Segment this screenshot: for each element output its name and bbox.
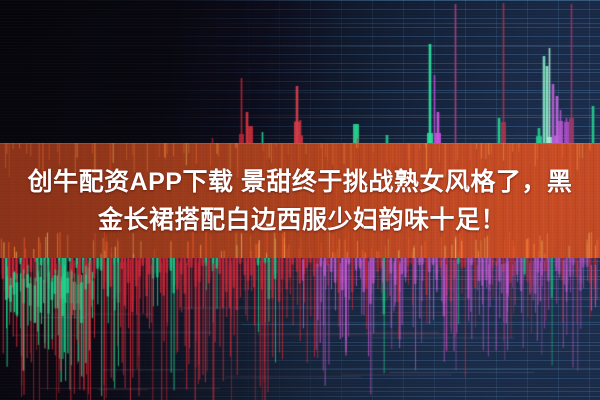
headline-text-block: 创牛配资APP下载 景甜终于挑战熟女风格了，黑 金长裙搭配白边西服少妇韵味十足！ [0, 143, 600, 258]
banner-image: 创牛配资APP下载 景甜终于挑战熟女风格了，黑 金长裙搭配白边西服少妇韵味十足！ [0, 0, 600, 400]
headline-line-2: 金长裙搭配白边西服少妇韵味十足！ [98, 204, 506, 236]
headline-line-1: 创牛配资APP下载 景甜终于挑战熟女风格了，黑 [28, 166, 573, 198]
